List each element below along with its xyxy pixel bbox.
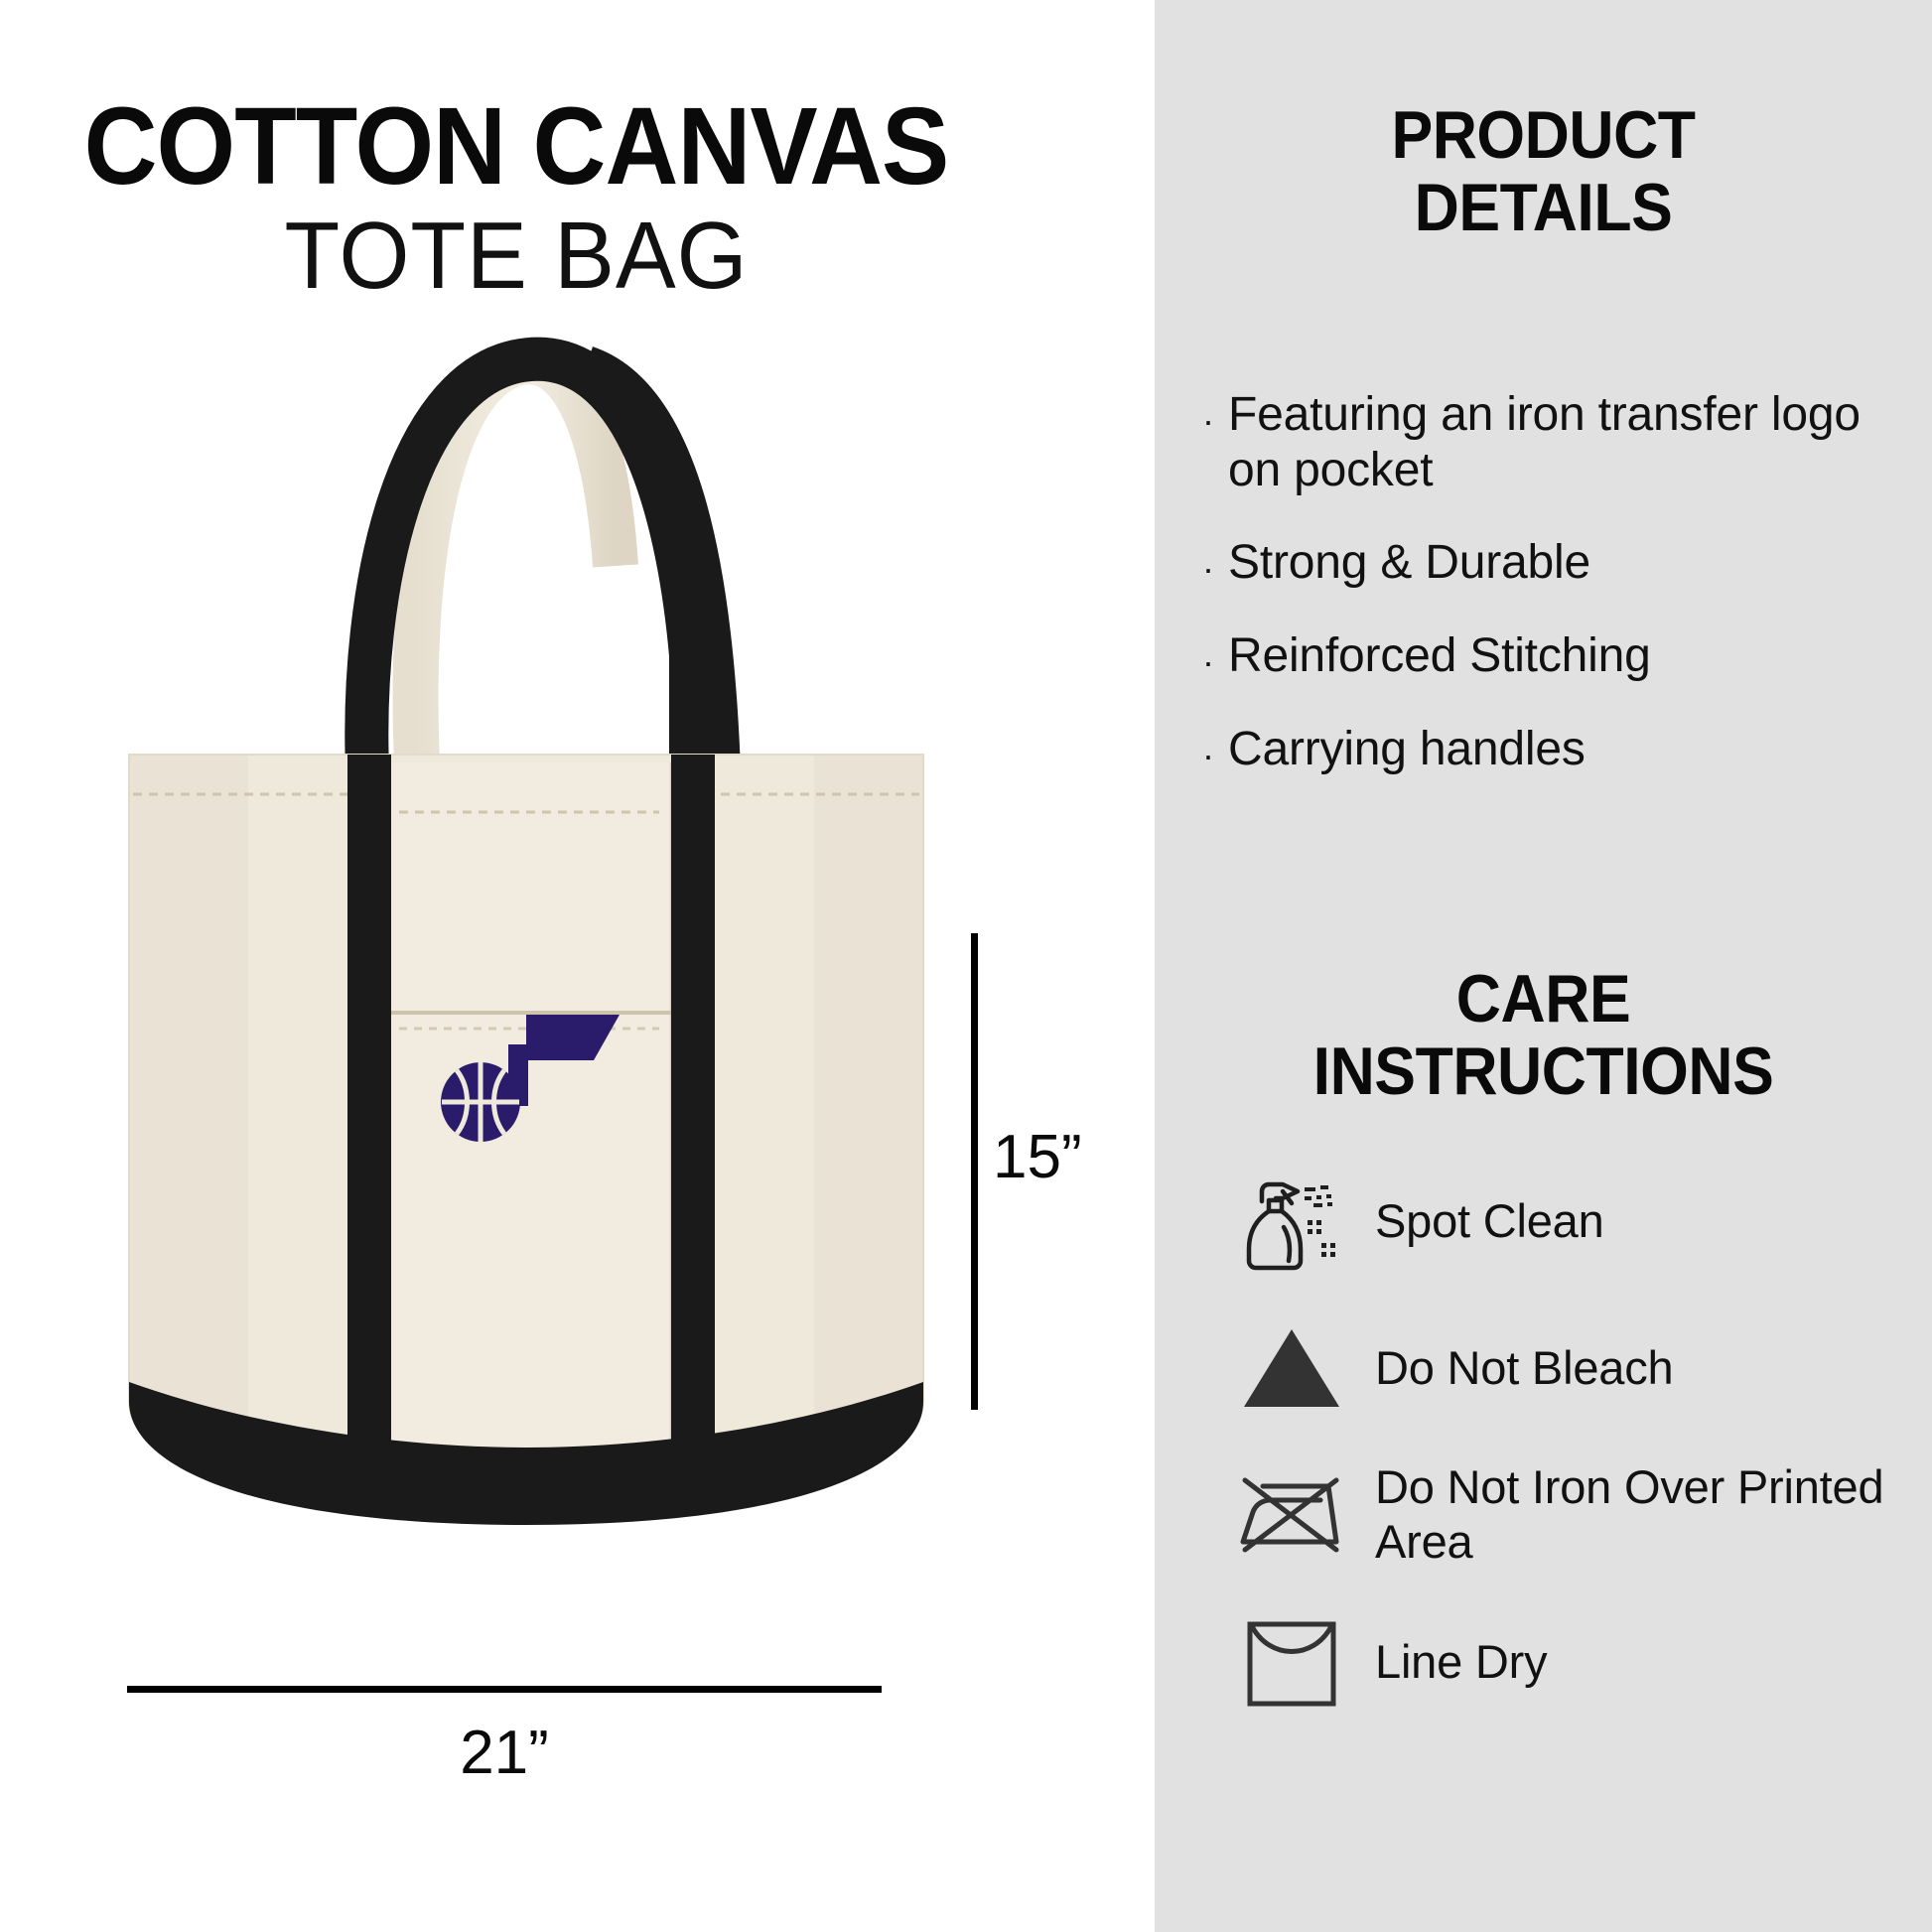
right-panel: PRODUCT DETAILS · Featuring an iron tran… — [1155, 0, 1932, 1932]
spray-bottle-icon — [1222, 1167, 1361, 1276]
bullet-icon: · — [1202, 403, 1214, 439]
height-dimension-label: 15” — [993, 1122, 1082, 1192]
care-item-spot-clean: Spot Clean — [1222, 1167, 1917, 1276]
crossed-out-iron-icon — [1222, 1460, 1361, 1570]
care-instructions-heading-line2: INSTRUCTIONS — [1185, 1035, 1900, 1108]
detail-label: Carrying handles — [1228, 722, 1586, 777]
line-dry-square-icon — [1222, 1607, 1361, 1717]
detail-label: Reinforced Stitching — [1228, 628, 1651, 684]
bullet-icon: · — [1202, 644, 1214, 680]
care-instructions-heading: CARE INSTRUCTIONS — [1185, 963, 1900, 1109]
handle-strap-left-front — [347, 755, 391, 1449]
bullet-icon: · — [1202, 738, 1214, 773]
care-item-do-not-iron: Do Not Iron Over Printed Area — [1222, 1460, 1917, 1570]
detail-label: Featuring an iron transfer logo on pocke… — [1228, 387, 1897, 497]
bullet-icon: · — [1202, 551, 1214, 587]
detail-label: Strong & Durable — [1228, 535, 1590, 591]
width-dimension-line — [127, 1686, 882, 1693]
page-title: COTTON CANVAS — [36, 91, 996, 203]
list-item: · Featuring an iron transfer logo on poc… — [1202, 387, 1897, 497]
product-details-heading-line1: PRODUCT — [1185, 99, 1900, 172]
list-item: · Strong & Durable — [1202, 535, 1897, 591]
utah-jazz-note-logo — [435, 999, 623, 1148]
page-subtitle: TOTE BAG — [26, 207, 1007, 307]
care-instructions-heading-line1: CARE — [1185, 963, 1900, 1035]
list-item: · Carrying handles — [1202, 722, 1897, 777]
care-label: Do Not Iron Over Printed Area — [1375, 1460, 1917, 1569]
care-label: Spot Clean — [1375, 1194, 1604, 1249]
title-block: COTTON CANVAS TOTE BAG — [0, 91, 1033, 307]
product-details-heading: PRODUCT DETAILS — [1185, 99, 1900, 245]
tote-bag-image — [119, 328, 933, 1618]
product-details-heading-line2: DETAILS — [1185, 172, 1900, 244]
care-item-line-dry: Line Dry — [1222, 1607, 1917, 1717]
care-instructions-list: Spot Clean Do Not Bleach — [1222, 1167, 1917, 1754]
product-details-list: · Featuring an iron transfer logo on poc… — [1202, 387, 1897, 814]
solid-triangle-do-not-bleach-icon — [1222, 1313, 1361, 1423]
product-infographic: COTTON CANVAS TOTE BAG — [0, 0, 1932, 1932]
handle-strap-right-front — [671, 755, 715, 1449]
list-item: · Reinforced Stitching — [1202, 628, 1897, 684]
width-dimension-label: 21” — [127, 1718, 882, 1788]
care-label: Do Not Bleach — [1375, 1341, 1673, 1396]
care-label: Line Dry — [1375, 1635, 1547, 1690]
care-item-do-not-bleach: Do Not Bleach — [1222, 1313, 1917, 1423]
height-dimension-line — [971, 933, 978, 1410]
left-panel: COTTON CANVAS TOTE BAG — [0, 0, 1155, 1932]
